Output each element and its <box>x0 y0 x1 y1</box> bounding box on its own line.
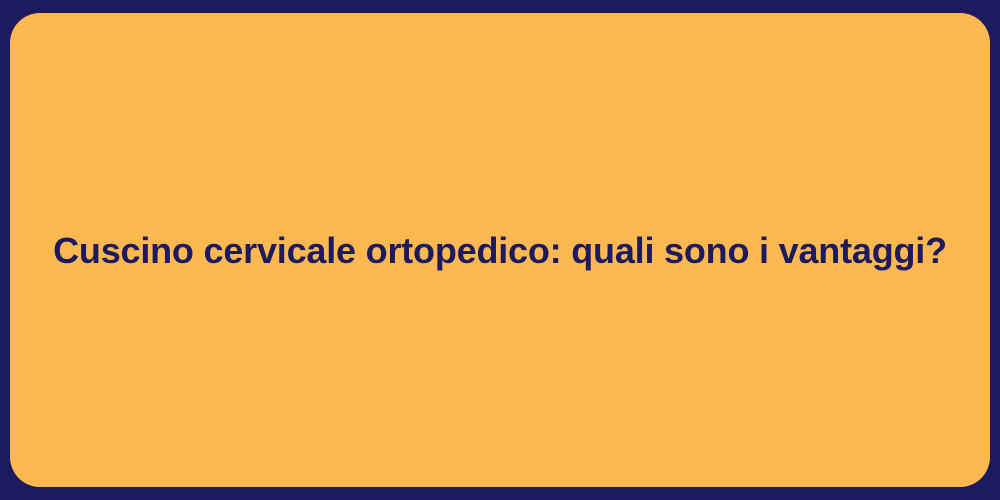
article-title-card: Cuscino cervicale ortopedico: quali sono… <box>10 13 990 487</box>
page-title: Cuscino cervicale ortopedico: quali sono… <box>50 228 950 273</box>
headline-container: Cuscino cervicale ortopedico: quali sono… <box>10 228 990 273</box>
page-background: Cuscino cervicale ortopedico: quali sono… <box>0 0 1000 500</box>
